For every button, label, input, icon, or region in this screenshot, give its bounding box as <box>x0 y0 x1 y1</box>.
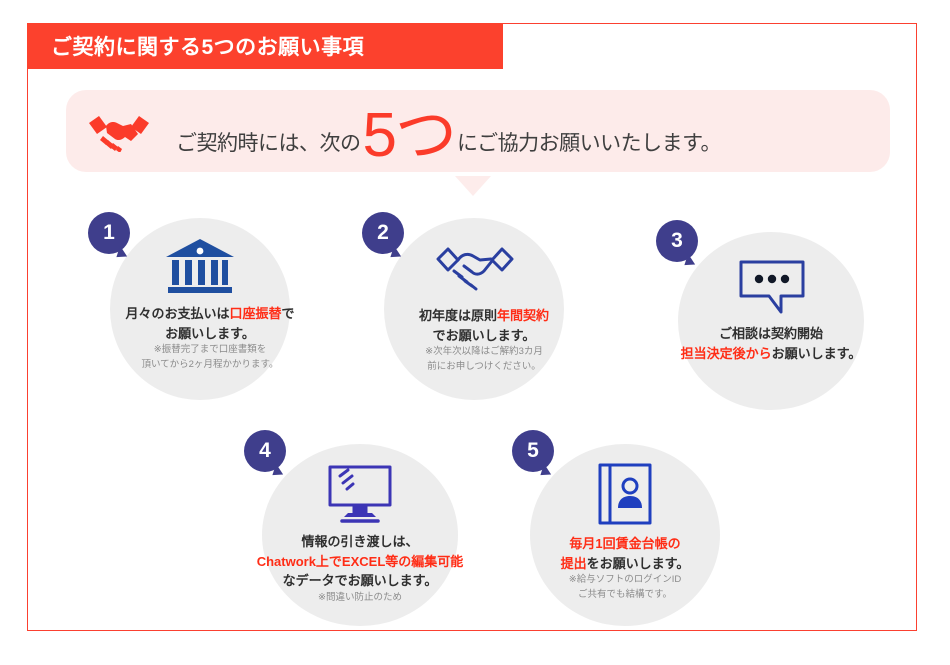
caption-note: ※次年次以降はご解約3カ月 <box>358 345 610 360</box>
item-number-badge: 2 <box>362 212 404 254</box>
monitor-icon <box>320 464 400 526</box>
down-arrow-icon <box>455 176 491 196</box>
banner-count: 5つ <box>363 111 455 161</box>
caption-line: 毎月1回賃金台帳の <box>490 534 760 554</box>
item-number-badge: 4 <box>244 430 286 472</box>
item-5: 5 毎月1回賃金台帳の 提出をお願いします。 ※給与ソフトのログインID ご共有… <box>530 444 720 626</box>
caption-line: 情報の引き渡しは、 <box>200 532 520 552</box>
caption-notes: ※振替完了まで口座書類を 頂いてから2ヶ月程かかります。 <box>82 343 338 372</box>
item-4: 4 情報の引き渡しは、 Chatwork上でEXCEL等の編集可能 なデータでお… <box>262 444 458 626</box>
intro-banner: ご契約時には、次の5つにご協力お願いいたします。 <box>66 90 890 172</box>
handshake-outline-icon <box>432 238 518 298</box>
item-caption: 月々のお支払いは口座振替で お願いします。 ※振替完了まで口座書類を 頂いてから… <box>82 304 338 372</box>
caption-line: 担当決定後からお願いします。 <box>634 344 908 364</box>
caption-notes: ※問違い防止のため <box>200 591 520 606</box>
caption-note: ※給与ソフトのログインID <box>490 573 760 588</box>
banner-tail: にご協力お願いいたします。 <box>457 127 721 157</box>
page-title: ご契約に関する5つのお願い事項 <box>51 31 364 61</box>
caption-note: ※問違い防止のため <box>200 591 520 606</box>
item-caption: 毎月1回賃金台帳の 提出をお願いします。 ※給与ソフトのログインID ご共有でも… <box>490 534 760 602</box>
item-2: 2 初年度は原則年間契約 でお願いします。 ※次年次以降はご解約3 <box>384 218 584 408</box>
item-number: 2 <box>377 221 389 245</box>
caption-note: ※振替完了まで口座書類を <box>82 343 338 358</box>
slide-title-bar: ご契約に関する5つのお願い事項 <box>27 23 503 69</box>
speech-bubble-dots-icon <box>732 258 812 316</box>
caption-line: 初年度は原則年間契約 <box>358 306 610 326</box>
banner-lead: ご契約時には、次の <box>176 127 361 157</box>
item-number-badge: 1 <box>88 212 130 254</box>
caption-line: Chatwork上でEXCEL等の編集可能 <box>200 552 520 572</box>
item-number: 3 <box>671 229 683 253</box>
bank-icon <box>160 236 240 298</box>
item-number-badge: 3 <box>656 220 698 262</box>
caption-line: ご相談は契約開始 <box>634 324 908 344</box>
caption-note: ご共有でも結構です。 <box>490 588 760 603</box>
item-number: 1 <box>103 221 115 245</box>
caption-notes: ※次年次以降はご解約3カ月 前にお申しつけください。 <box>358 345 610 374</box>
item-number-badge: 5 <box>512 430 554 472</box>
item-number: 5 <box>527 439 539 463</box>
item-3: 3 ご相談は契約開始 担当決定後からお願いします。 <box>678 232 864 410</box>
item-caption: ご相談は契約開始 担当決定後からお願いします。 <box>634 324 908 363</box>
item-number: 4 <box>259 439 271 463</box>
caption-line: お願いします。 <box>82 324 338 344</box>
caption-note: 前にお申しつけください。 <box>358 360 610 375</box>
slide-root: ご契約に関する5つのお願い事項 ご契約時には、次の5つにご協力お願いいたします。 <box>0 0 950 665</box>
caption-line: でお願いします。 <box>358 326 610 346</box>
banner-text: ご契約時には、次の5つにご協力お願いいたします。 <box>176 105 721 157</box>
ledger-person-icon <box>590 462 660 528</box>
caption-notes: ※給与ソフトのログインID ご共有でも結構です。 <box>490 573 760 602</box>
caption-line: なデータでお願いします。 <box>200 571 520 591</box>
item-caption: 初年度は原則年間契約 でお願いします。 ※次年次以降はご解約3カ月 前にお申しつ… <box>358 306 610 374</box>
caption-line: 提出をお願いします。 <box>490 554 760 574</box>
caption-note: 頂いてから2ヶ月程かかります。 <box>82 358 338 373</box>
caption-line: 月々のお支払いは口座振替で <box>82 304 338 324</box>
item-1: 1 月々のお支払いは口座振替で お願いします。 ※振替完了まで口座 <box>110 218 310 408</box>
item-caption: 情報の引き渡しは、 Chatwork上でEXCEL等の編集可能 なデータでお願い… <box>200 532 520 605</box>
handshake-icon <box>84 107 154 155</box>
